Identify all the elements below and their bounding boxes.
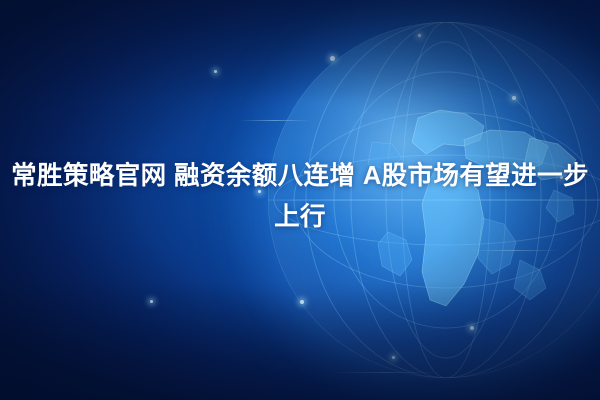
headline-text: 常胜策略官网 融资余额八连增 A股市场有望进一步上行	[0, 156, 600, 238]
sparkle-dot	[418, 34, 421, 37]
sparkle-dot	[330, 56, 335, 61]
sparkle-dot	[470, 326, 474, 330]
banner-image: 常胜策略官网 融资余额八连增 A股市场有望进一步上行	[0, 0, 600, 400]
sparkle-dot	[150, 300, 153, 303]
sparkle-dot	[214, 70, 217, 73]
light-streak	[330, 372, 440, 373]
sparkle-dot	[512, 96, 516, 100]
light-streak	[470, 250, 560, 251]
sparkle-dot	[392, 356, 395, 359]
light-streak	[240, 120, 310, 121]
sparkle-dot	[300, 300, 304, 304]
